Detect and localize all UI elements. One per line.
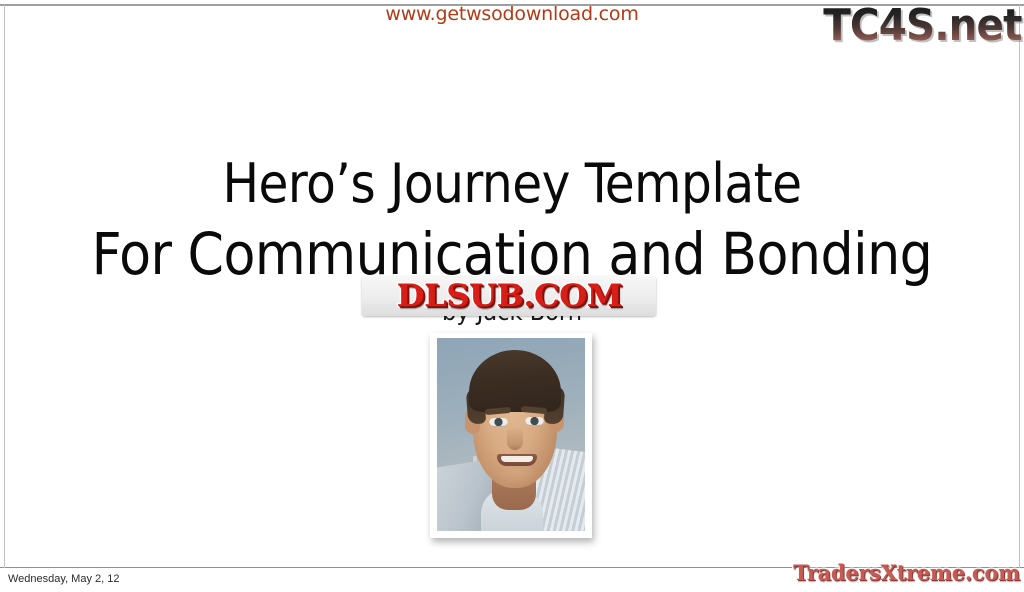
watermark-dlsub-badge: DLSUB.COM (362, 276, 656, 316)
watermark-tc4s-logo: TC4S.net (824, 2, 1022, 50)
photo-chin (497, 468, 537, 484)
author-photo-frame (430, 333, 592, 538)
slide-date: Wednesday, May 2, 12 (8, 572, 120, 586)
photo-nose (507, 426, 523, 450)
photo-eye-right (525, 417, 544, 426)
author-photo (437, 338, 585, 531)
watermark-tradersxtreme: TradersXtreme.com (793, 560, 1020, 586)
photo-mouth (497, 454, 537, 466)
photo-eye-left (489, 418, 508, 427)
watermark-dlsub-label: DLSUB.COM (396, 279, 621, 313)
title-line-1: Hero’s Journey Template (0, 148, 1024, 219)
photo-teeth (501, 456, 533, 462)
page-title: Hero’s Journey Template For Communicatio… (0, 148, 1024, 290)
presentation-slide: www.getwsodownload.com TC4S.net Hero’s J… (0, 0, 1024, 592)
